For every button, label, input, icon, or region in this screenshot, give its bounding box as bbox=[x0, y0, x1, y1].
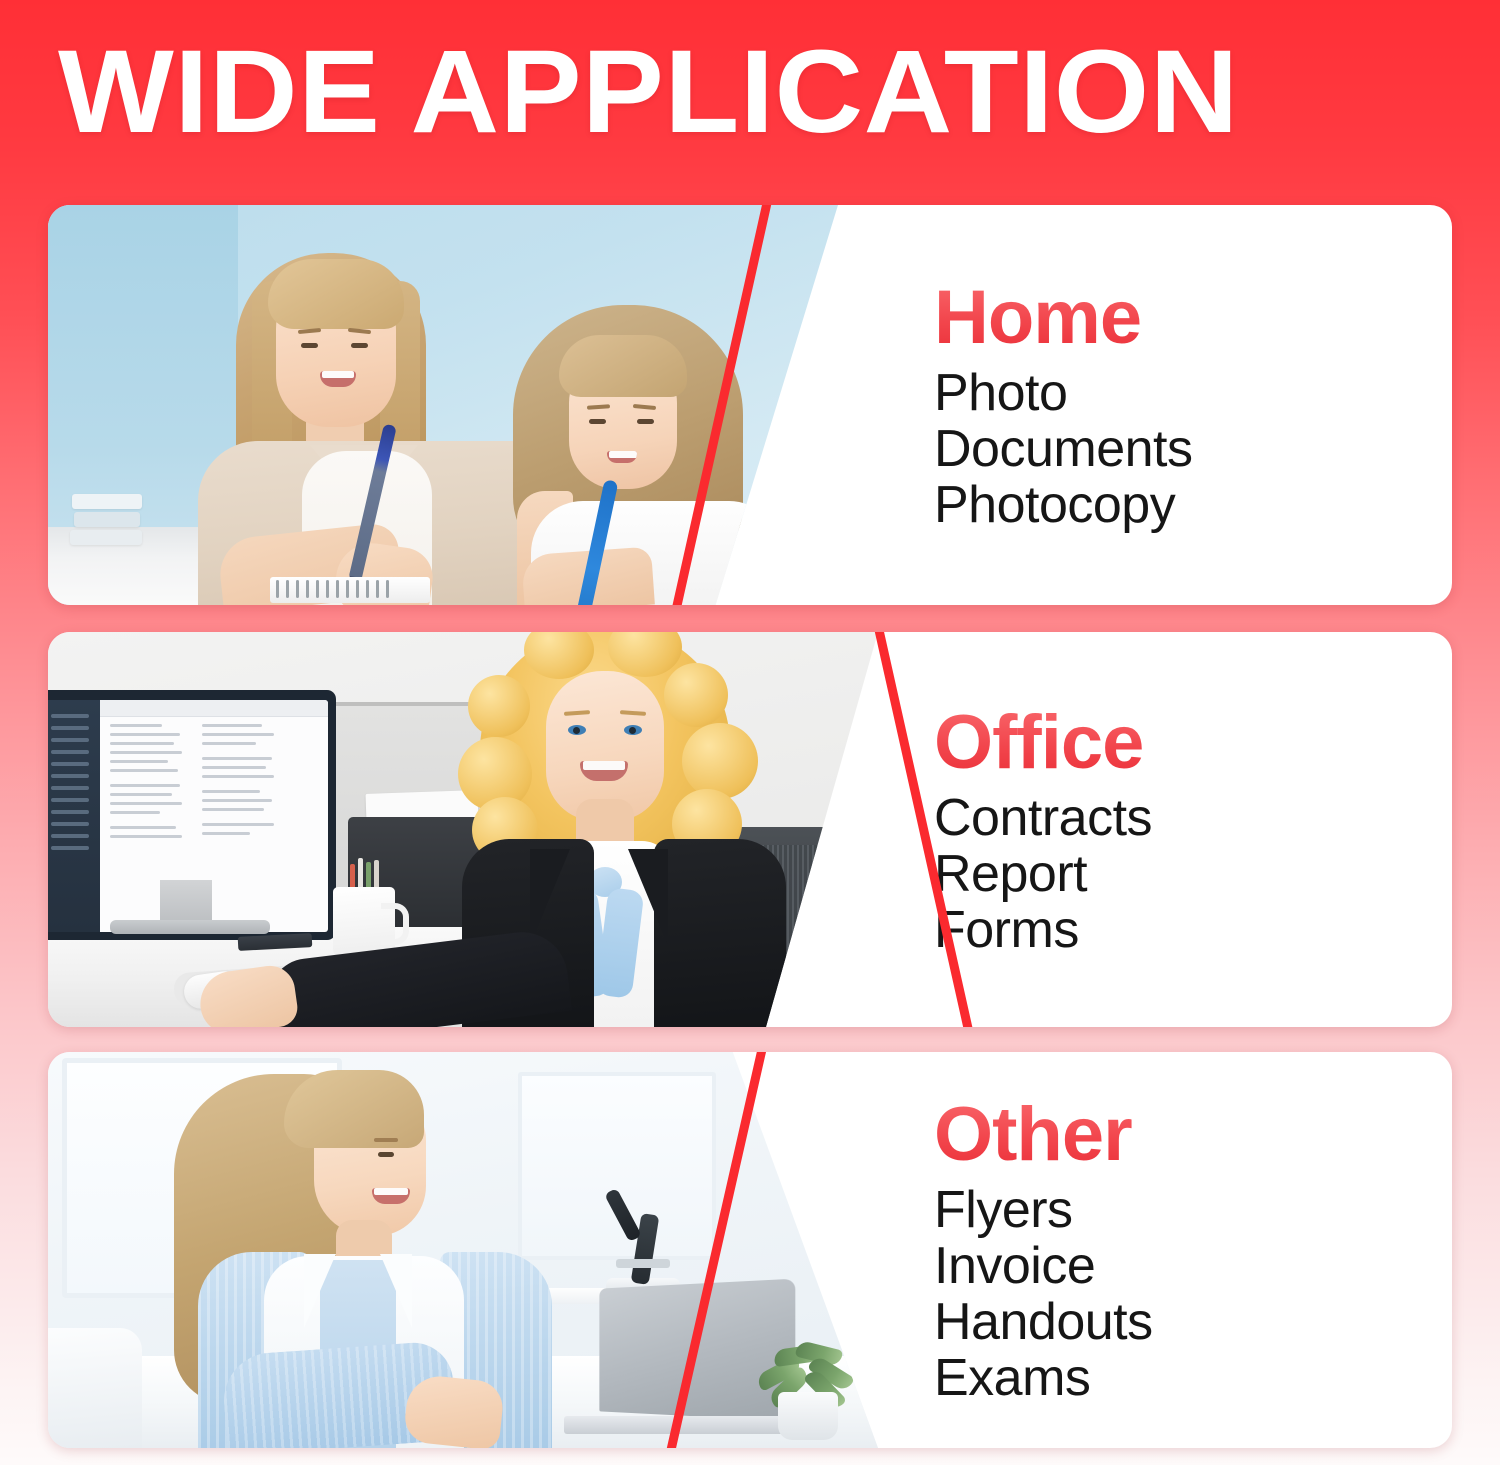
text-panel-office: Office Contracts Report Forms bbox=[932, 632, 1452, 1027]
photo-other bbox=[48, 1052, 878, 1448]
wide-application-poster: WIDE APPLICATION bbox=[0, 0, 1500, 1465]
card-heading: Office bbox=[934, 702, 1452, 784]
list-item: Photocopy bbox=[934, 477, 1452, 533]
girl-figure bbox=[503, 305, 813, 605]
list-item: Documents bbox=[934, 421, 1452, 477]
woman-figure bbox=[168, 1052, 598, 1448]
photo-office bbox=[48, 632, 878, 1027]
list-item: Handouts bbox=[934, 1294, 1452, 1350]
list-item: Contracts bbox=[934, 790, 1452, 846]
page-title: WIDE APPLICATION bbox=[58, 32, 1239, 152]
chair bbox=[48, 1328, 142, 1448]
monitor-stand bbox=[160, 880, 212, 924]
application-card-home: Home Photo Documents Photocopy bbox=[48, 205, 1452, 605]
card-heading: Home bbox=[934, 277, 1452, 359]
monitor-base bbox=[110, 920, 270, 934]
list-item: Invoice bbox=[934, 1238, 1452, 1294]
list-item: Forms bbox=[934, 902, 1452, 958]
card-item-list: Contracts Report Forms bbox=[934, 790, 1452, 958]
title-banner: WIDE APPLICATION bbox=[0, 0, 1500, 190]
book-stack-icon bbox=[70, 481, 142, 545]
text-panel-home: Home Photo Documents Photocopy bbox=[932, 205, 1452, 605]
businesswoman-figure bbox=[468, 632, 798, 1027]
card-item-list: Photo Documents Photocopy bbox=[934, 365, 1452, 533]
list-item: Exams bbox=[934, 1350, 1452, 1406]
card-heading: Other bbox=[934, 1094, 1452, 1176]
pencil-cup-icon bbox=[348, 858, 388, 890]
application-card-office: Office Contracts Report Forms bbox=[48, 632, 1452, 1027]
list-item: Report bbox=[934, 846, 1452, 902]
notebook bbox=[270, 577, 430, 603]
list-item: Flyers bbox=[934, 1182, 1452, 1238]
potted-plant bbox=[752, 1320, 862, 1440]
text-panel-other: Other Flyers Invoice Handouts Exams bbox=[932, 1052, 1452, 1448]
card-item-list: Flyers Invoice Handouts Exams bbox=[934, 1182, 1452, 1406]
list-item: Photo bbox=[934, 365, 1452, 421]
microscope-icon bbox=[588, 1190, 698, 1294]
application-card-other: Other Flyers Invoice Handouts Exams bbox=[48, 1052, 1452, 1448]
